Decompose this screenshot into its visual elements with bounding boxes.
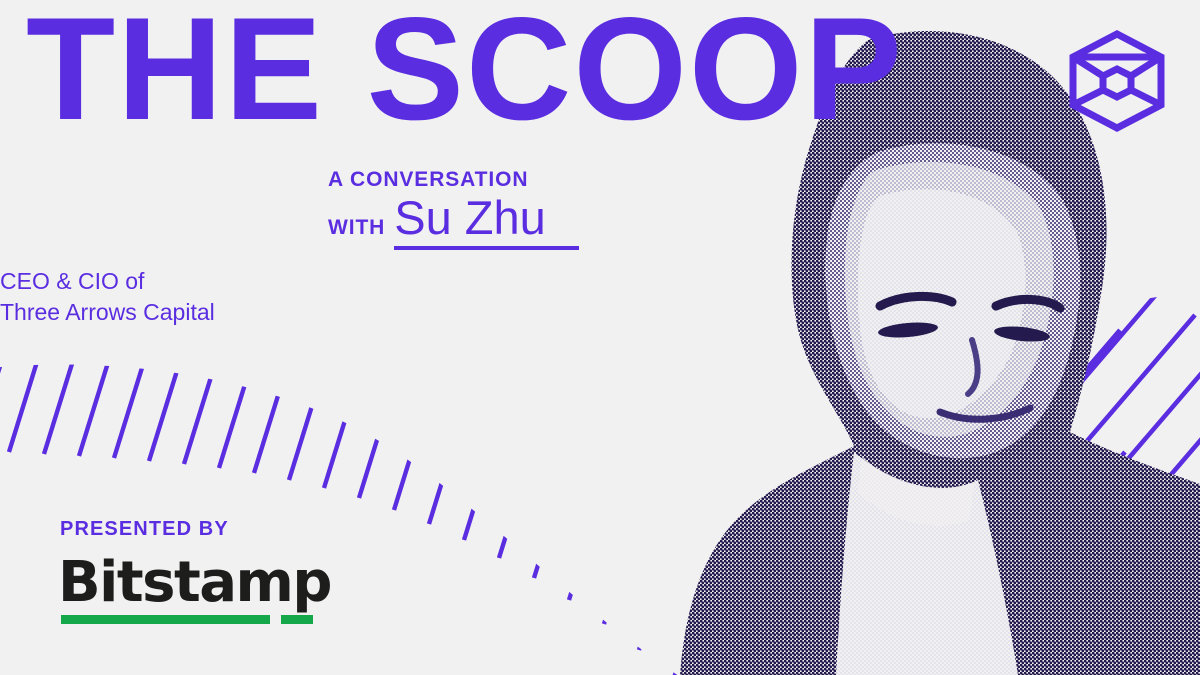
sponsor-logo: Bitstamp xyxy=(58,555,331,624)
guest-role: CEO & CIO of Three Arrows Capital xyxy=(0,266,655,327)
guest-name-underline xyxy=(394,246,579,250)
episode-title-card: THE SCOOP A CONVERSATION WITH Su Zhu CEO… xyxy=(0,0,1200,675)
sponsor-block: PRESENTED BY Bitstamp xyxy=(58,518,331,624)
guest-name-wrap: Su Zhu xyxy=(394,194,579,250)
conversation-label: A CONVERSATION xyxy=(0,168,655,192)
sponsor-rule-long xyxy=(61,615,270,624)
with-label: WITH xyxy=(328,216,385,240)
guest-role-line-1: CEO & CIO of xyxy=(0,266,105,297)
guest-role-line-2: Three Arrows Capital xyxy=(0,297,105,328)
guest-name-row: WITH Su Zhu xyxy=(0,194,655,250)
page-title: THE SCOOP xyxy=(26,0,904,142)
guest-info-block: A CONVERSATION WITH Su Zhu CEO & CIO of … xyxy=(0,168,655,327)
sponsor-wordmark: Bitstamp xyxy=(58,555,331,611)
sponsor-rule-group xyxy=(58,615,331,624)
presented-by-label: PRESENTED BY xyxy=(60,518,331,541)
hexagon-cube-icon xyxy=(1064,28,1170,134)
sponsor-rule-short xyxy=(281,615,313,624)
guest-name: Su Zhu xyxy=(394,194,579,241)
